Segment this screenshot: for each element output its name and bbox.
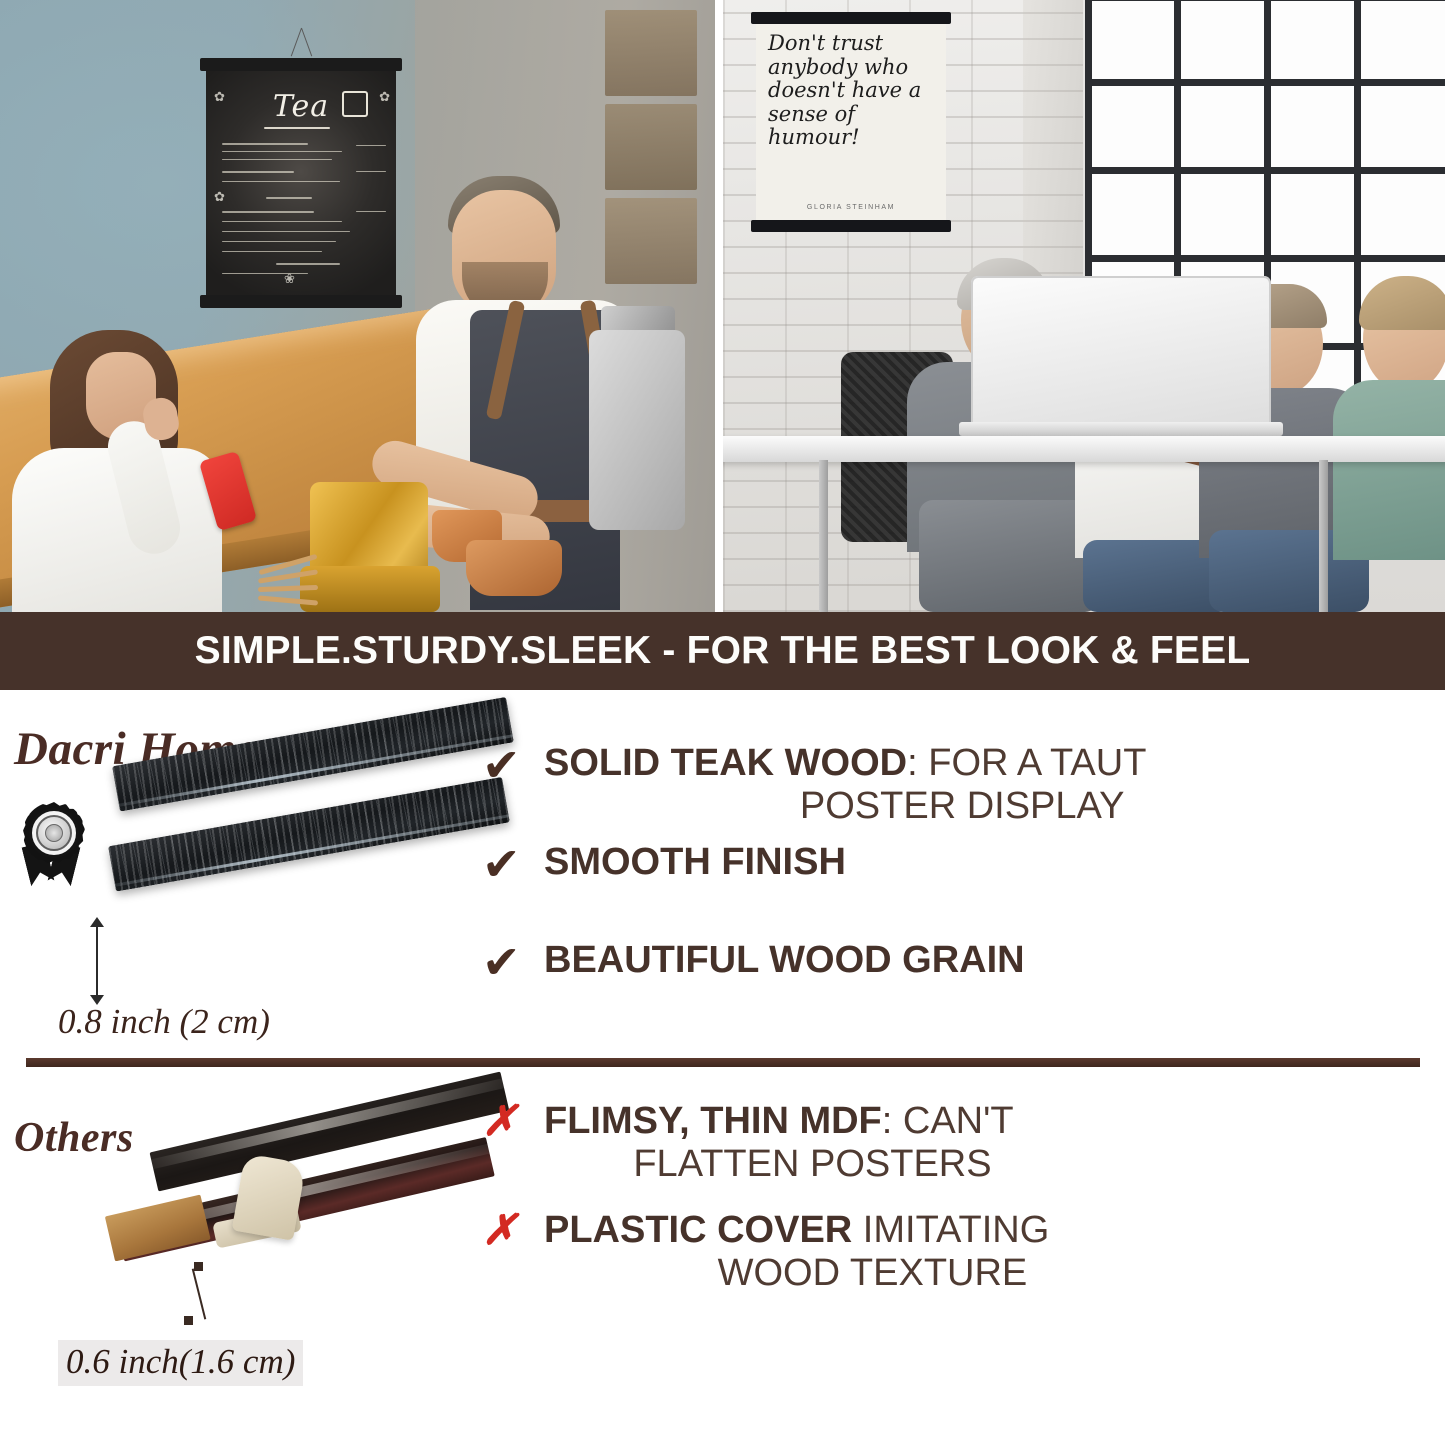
benefit-bold: SOLID TEAK WOOD <box>544 742 907 784</box>
cafe-photo: Tea ✿ ✿ ✿ ❀ <box>0 0 715 612</box>
stir-stick <box>258 595 318 605</box>
check-icon: ✔ <box>482 939 544 985</box>
person-legs <box>919 500 1099 612</box>
cross-icon: ✗ <box>482 1209 544 1251</box>
drawback-sep: : <box>882 1100 893 1142</box>
chalk-menu-line <box>222 143 308 145</box>
benefit-text: SOLID TEAK WOOD: FOR A TAUT POSTER DISPL… <box>544 742 1146 827</box>
quote-poster: Don't trust anybody who doesn't have a s… <box>756 12 946 232</box>
chalk-menu-line <box>222 273 308 274</box>
drawback-text: PLASTIC COVER IMITATING WOOD TEXTURE <box>544 1209 1049 1294</box>
dimension-label-dacri: 0.8 inch (2 cm) <box>58 1002 270 1042</box>
poster-top-bar <box>200 58 402 71</box>
laptop-screen <box>971 276 1271 424</box>
dacri-product-visual: Dacri Home 0.8 inch (2 cm) <box>0 690 480 1062</box>
benefit-rest: FOR A TAUT <box>918 742 1147 784</box>
poster-board: Tea ✿ ✿ ✿ ❀ <box>206 71 396 295</box>
headline-text: SIMPLE.STURDY.SLEEK - FOR THE BEST LOOK … <box>195 629 1251 673</box>
photo-strip: Tea ✿ ✿ ✿ ❀ <box>0 0 1445 612</box>
drawback-bold: FLIMSY, THIN MDF <box>544 1100 882 1142</box>
drawback-item: ✗ FLIMSY, THIN MDF: CAN'T FLATTEN POSTER… <box>482 1100 1445 1185</box>
chalk-leaf-icon: ✿ <box>214 189 225 205</box>
laptop-base <box>959 422 1283 436</box>
chalk-leaf-icon: ✿ <box>214 89 225 105</box>
chalk-leaf-icon: ✿ <box>379 89 390 105</box>
dimension-label-others: 0.6 inch(1.6 cm) <box>58 1340 303 1386</box>
chalk-price <box>356 145 386 146</box>
chalk-menu-line <box>222 251 322 252</box>
poster-bottom-bar <box>200 295 402 308</box>
comparison-row-good: Dacri Home 0.8 inch (2 cm) <box>0 690 1445 1062</box>
chalk-menu-line <box>222 231 350 232</box>
slat-highlight-edge <box>115 814 509 886</box>
chalk-menu-line <box>222 171 294 173</box>
stir-sticks <box>258 556 342 612</box>
office-table <box>723 436 1445 462</box>
shelf-box <box>605 198 697 284</box>
drawback-bold: PLASTIC COVER <box>544 1209 852 1251</box>
poster-quote-text: Don't trust anybody who doesn't have a s… <box>768 32 938 150</box>
chalk-price <box>356 171 386 172</box>
poster-attribution: GLORIA STEINHAM <box>756 204 946 211</box>
benefit-item: ✔ SMOOTH FINISH <box>482 841 1445 887</box>
award-rosette-icon <box>18 800 90 882</box>
poster-bottom-bar <box>751 220 951 232</box>
window-transom <box>1092 167 1445 174</box>
shelf-box <box>605 104 697 190</box>
comparison-row-bad: Others 0.6 inch(1.6 cm) <box>0 1072 1445 1430</box>
tea-chalkboard-poster: Tea ✿ ✿ ✿ ❀ <box>206 58 396 308</box>
drawback-line2: FLATTEN POSTERS <box>544 1143 1014 1186</box>
chalk-menu-line <box>222 211 314 213</box>
benefit-sep: : <box>907 742 918 784</box>
poster-top-bar <box>751 12 951 24</box>
benefit-bold: SMOOTH FINISH <box>544 841 846 883</box>
benefit-bold: BEAUTIFUL WOOD GRAIN <box>544 939 1025 981</box>
teapot-icon <box>342 91 368 117</box>
coffee-grinder <box>589 330 685 530</box>
chalk-menu-line <box>222 241 336 242</box>
chalk-menu-line <box>266 197 312 199</box>
benefit-item: ✔ BEAUTIFUL WOOD GRAIN <box>482 939 1445 985</box>
comparison-section: Dacri Home 0.8 inch (2 cm) <box>0 690 1445 1430</box>
shelf-box <box>605 10 697 96</box>
others-product-visual: Others 0.6 inch(1.6 cm) <box>0 1072 480 1430</box>
check-icon: ✔ <box>482 742 544 788</box>
poster-sheet: Don't trust anybody who doesn't have a s… <box>756 24 946 220</box>
drawback-list: ✗ FLIMSY, THIN MDF: CAN'T FLATTEN POSTER… <box>482 1072 1445 1294</box>
drawback-text: FLIMSY, THIN MDF: CAN'T FLATTEN POSTERS <box>544 1100 1014 1185</box>
chalk-price <box>356 211 386 212</box>
window-transom <box>1092 79 1445 86</box>
exposed-mdf-core <box>105 1195 211 1262</box>
chalk-menu-line <box>276 263 340 265</box>
headline-banner: SIMPLE.STURDY.SLEEK - FOR THE BEST LOOK … <box>0 612 1445 690</box>
benefit-item: ✔ SOLID TEAK WOOD: FOR A TAUT POSTER DIS… <box>482 742 1445 827</box>
drawback-item: ✗ PLASTIC COVER IMITATING WOOD TEXTURE <box>482 1209 1445 1294</box>
benefit-line2: POSTER DISPLAY <box>544 785 1146 828</box>
table-leg <box>819 460 828 612</box>
benefit-text: BEAUTIFUL WOOD GRAIN <box>544 939 1025 982</box>
chalk-menu-line <box>222 181 340 182</box>
dimension-marker <box>194 1262 203 1271</box>
office-photo: Don't trust anybody who doesn't have a s… <box>723 0 1445 612</box>
title-underline <box>264 127 330 129</box>
thickness-arrow <box>96 926 98 996</box>
cross-icon: ✗ <box>482 1100 544 1142</box>
table-leg <box>1319 460 1328 612</box>
product-comparison-infographic: Tea ✿ ✿ ✿ ❀ <box>0 0 1445 1430</box>
benefit-list: ✔ SOLID TEAK WOOD: FOR A TAUT POSTER DIS… <box>482 690 1445 985</box>
chalk-menu-line <box>222 151 342 152</box>
benefit-text: SMOOTH FINISH <box>544 841 846 884</box>
drawback-rest: IMITATING <box>852 1209 1049 1251</box>
photo-gap <box>715 0 723 612</box>
drawback-line2: WOOD TEXTURE <box>544 1252 1049 1295</box>
dimension-marker <box>184 1316 193 1325</box>
mdf-slats-photo <box>110 1130 480 1360</box>
chalk-menu-line <box>222 159 332 160</box>
stir-stick <box>258 585 318 592</box>
chalk-menu-line <box>222 221 342 222</box>
drawback-rest: CAN'T <box>892 1100 1013 1142</box>
window-transom <box>1092 255 1445 262</box>
copper-cup <box>466 540 562 596</box>
person-torso <box>1333 380 1445 560</box>
window-mullion <box>1354 1 1361 427</box>
rosette-center <box>45 824 63 842</box>
check-icon: ✔ <box>482 841 544 887</box>
